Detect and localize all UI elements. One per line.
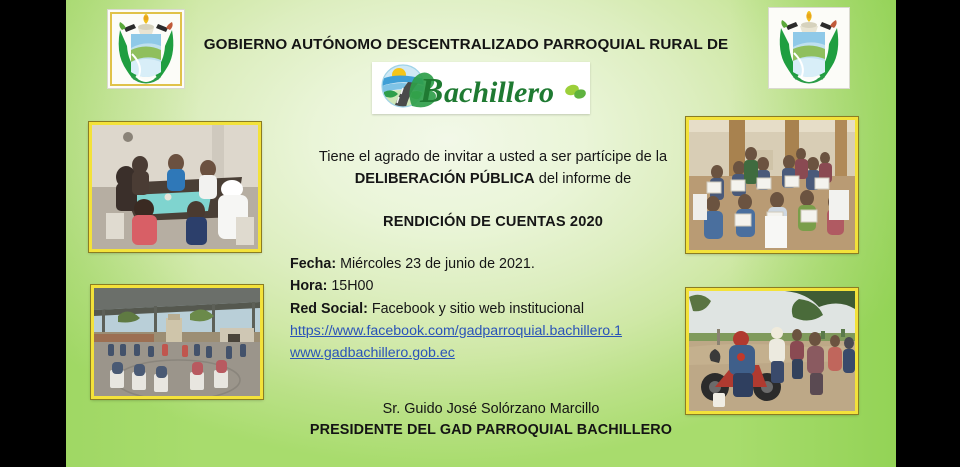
invitation-line-2-rest: del informe de [535,171,632,187]
invitation-body: Tiene el agrado de invitar a usted a ser… [278,146,708,230]
event-details: Fecha: Miércoles 23 de junio de 2021. Ho… [290,253,720,364]
bachillero-wordmark-text: achillero [444,76,554,109]
hora-value: 15H00 [327,278,373,294]
rendicion-headline: RENDICIÓN DE CUENTAS 2020 [278,214,708,230]
photo-group-certificates [686,117,858,253]
red-social-label: Red Social: [290,301,368,317]
bachillero-logo: B achillero [372,62,590,114]
facebook-link[interactable]: https://www.facebook.com/gadparroquial.b… [290,320,720,342]
deliberacion-publica-label: DELIBERACIÓN PÚBLICA [355,171,535,187]
hora-label: Hora: [290,278,327,294]
photo-indoor-meeting-table [89,122,261,252]
letterbox-bar-left [0,0,66,467]
fecha-value: Miércoles 23 de junio de 2021. [336,256,535,272]
detail-red-social: Red Social: Facebook y sitio web institu… [290,298,720,320]
screenshot-stage: GOBIERNO AUTÓNOMO DESCENTRALIZADO PARROQ… [0,0,960,467]
signature-block: Sr. Guido José Solórzano Marcillo PRESID… [266,399,716,441]
page-title: GOBIERNO AUTÓNOMO DESCENTRALIZADO PARROQ… [186,36,746,53]
detail-hora: Hora: 15H00 [290,275,720,297]
invitation-line-2: DELIBERACIÓN PÚBLICA del informe de [278,168,708,190]
detail-fecha: Fecha: Miércoles 23 de junio de 2021. [290,253,720,275]
letterbox-bar-right [896,0,960,467]
fecha-label: Fecha: [290,256,336,272]
signer-position: PRESIDENTE DEL GAD PARROQUIAL BACHILLERO [266,420,716,441]
photo-outdoor-covered-court [91,285,263,399]
photo-rural-gathering-motorcycle [686,288,858,414]
svg-text:B: B [419,71,443,110]
coat-of-arms-icon-right [768,7,850,89]
coat-of-arms-icon-left [107,9,185,89]
invitation-poster: GOBIERNO AUTÓNOMO DESCENTRALIZADO PARROQ… [66,0,896,467]
signer-name: Sr. Guido José Solórzano Marcillo [266,399,716,420]
red-social-value: Facebook y sitio web institucional [368,301,584,317]
website-link[interactable]: www.gadbachillero.gob.ec [290,342,720,364]
invitation-line-1: Tiene el agrado de invitar a usted a ser… [278,146,708,168]
